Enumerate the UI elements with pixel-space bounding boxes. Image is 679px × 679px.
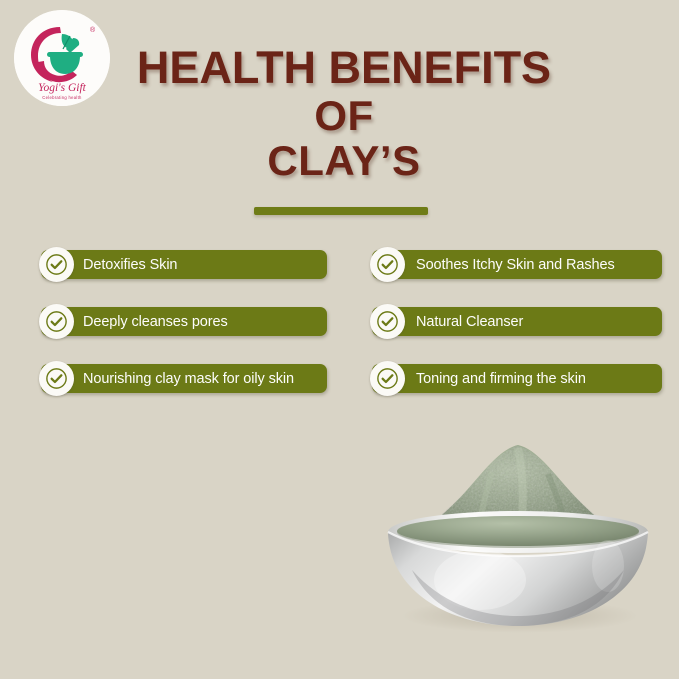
benefit-row: Deeply cleanses pores Natural Cleanser bbox=[0, 307, 679, 364]
benefit-label: Natural Cleanser bbox=[416, 314, 523, 330]
brand-name: Yogi's Gift bbox=[38, 82, 87, 94]
benefit-label: Soothes Itchy Skin and Rashes bbox=[416, 257, 615, 273]
check-circle-icon bbox=[370, 304, 405, 339]
benefit-label: Deeply cleanses pores bbox=[83, 314, 228, 330]
benefit-label: Toning and firming the skin bbox=[416, 371, 586, 387]
page-title: HEALTH BENEFITS OF CLAY’S bbox=[118, 44, 570, 184]
svg-text:®: ® bbox=[90, 26, 96, 34]
check-circle-icon bbox=[39, 304, 74, 339]
product-image-clay-powder-bowl bbox=[372, 420, 662, 635]
title-underline-bar bbox=[254, 207, 428, 215]
benefit-pill-natural-cleanser[interactable]: Natural Cleanser bbox=[372, 307, 662, 336]
benefit-pill-soothes-itchy-skin-and-rashes[interactable]: Soothes Itchy Skin and Rashes bbox=[372, 250, 662, 279]
health-benefits-poster: ® Yogi's Gift Celebrating health HEALTH … bbox=[0, 0, 679, 679]
check-circle-icon bbox=[39, 361, 74, 396]
benefit-row: Nourishing clay mask for oily skin Tonin… bbox=[0, 364, 679, 421]
benefit-pill-detoxifies-skin[interactable]: Detoxifies Skin bbox=[41, 250, 327, 279]
benefits-list: Detoxifies Skin Soothes Itchy Skin and R… bbox=[0, 250, 679, 421]
brand-tagline: Celebrating health bbox=[42, 95, 82, 100]
benefit-row: Detoxifies Skin Soothes Itchy Skin and R… bbox=[0, 250, 679, 307]
benefit-pill-deeply-cleanses-pores[interactable]: Deeply cleanses pores bbox=[41, 307, 327, 336]
benefit-label: Nourishing clay mask for oily skin bbox=[83, 371, 294, 387]
benefit-label: Detoxifies Skin bbox=[83, 257, 177, 273]
check-circle-icon bbox=[39, 247, 74, 282]
title-line-3: CLAY’S bbox=[118, 139, 570, 184]
check-circle-icon bbox=[370, 247, 405, 282]
title-line-1: HEALTH BENEFITS bbox=[118, 44, 570, 92]
brand-logo: ® Yogi's Gift Celebrating health bbox=[14, 10, 110, 106]
check-circle-icon bbox=[370, 361, 405, 396]
benefit-pill-toning-and-firming-the-skin[interactable]: Toning and firming the skin bbox=[372, 364, 662, 393]
benefit-pill-nourishing-clay-mask-for-oily-skin[interactable]: Nourishing clay mask for oily skin bbox=[41, 364, 327, 393]
title-line-2: OF bbox=[118, 94, 570, 139]
